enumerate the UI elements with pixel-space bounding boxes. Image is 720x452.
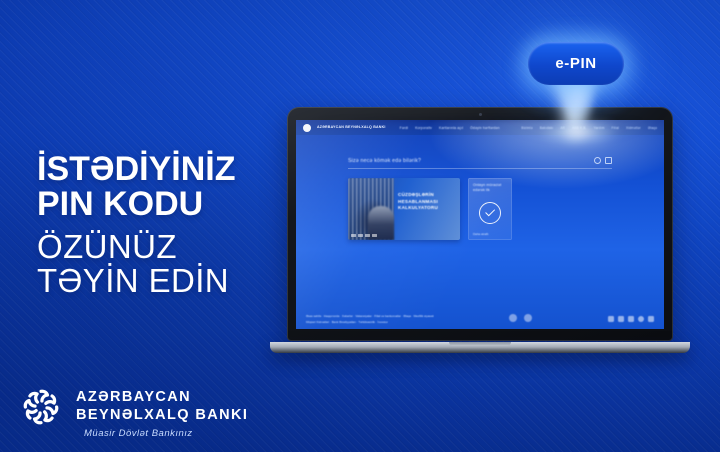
bank-name-line-1: AZƏRBAYCAN [76, 389, 248, 407]
facebook-icon[interactable] [608, 316, 614, 322]
menu-icon[interactable] [605, 157, 612, 164]
headline-line-4: TƏYİN EDİN [37, 264, 235, 298]
epin-promo-banner: İSTƏDİYİNİZ PIN KODU ÖZÜNÜZ TƏYİN EDİN A… [0, 0, 720, 452]
epin-badge-group: e-PIN [528, 42, 624, 85]
bank-logo-text: AZƏRBAYCAN BEYNƏLXALQ BANKI [76, 389, 248, 424]
partner-badge-icon-1 [509, 314, 517, 322]
card-photo [348, 178, 394, 240]
footer-links-primary[interactable]: Əsas səhifə · Haqqımızda · Xəbərlər · Va… [306, 314, 434, 318]
headline-line-1: İSTƏDİYİNİZ [37, 152, 235, 187]
search-actions[interactable] [594, 157, 612, 164]
footer-links-secondary[interactable]: Müştəri Xidmətləri · Bank Əməliyyatları … [306, 320, 388, 324]
site-search-bar[interactable]: Sizə necə kömək edə bilərik? [348, 157, 612, 169]
check-circle-icon [479, 202, 501, 224]
laptop-base [270, 342, 690, 353]
laptop-drop-shadow [245, 118, 715, 127]
bank-name-line-2: BEYNƏLXALQ BANKI [76, 407, 248, 425]
epin-badge-label: e-PIN [555, 55, 596, 72]
headline-line-2: PIN KODU [37, 187, 235, 222]
bank-logo-lockup: AZƏRBAYCAN BEYNƏLXALQ BANKI [18, 384, 248, 430]
footer-social-icons[interactable] [608, 316, 654, 324]
epin-badge[interactable]: e-PIN [528, 42, 624, 85]
partner-badge-icon-2 [524, 314, 532, 322]
card-badge-row [351, 234, 377, 237]
instagram-icon[interactable] [618, 316, 624, 322]
footer-row-1[interactable]: Əsas səhifə · Haqqımızda · Xəbərlər · Va… [306, 314, 434, 318]
light-beam-pool [540, 120, 620, 150]
calculator-card-title: CÜZDƏŞLƏRİN HESABLANMASI KALKULYATORU [398, 192, 455, 212]
website-hero: Sizə necə kömək edə bilərik? [296, 135, 664, 240]
online-card-title-line2: edərək ilk [473, 188, 507, 193]
hero-card-group: CÜZDƏŞLƏRİN HESABLANMASI KALKULYATORU On… [348, 178, 612, 240]
footer-row-2[interactable]: Müştəri Xidmətləri · Bank Əməliyyatları … [306, 320, 434, 324]
calculator-promo-card[interactable]: CÜZDƏŞLƏRİN HESABLANMASI KALKULYATORU [348, 178, 460, 240]
footer-partner-badges [509, 314, 532, 324]
webcam-icon [479, 113, 482, 116]
headline-block: İSTƏDİYİNİZ PIN KODU ÖZÜNÜZ TƏYİN EDİN [37, 152, 235, 298]
bank-tagline: Müasir Dövlət Bankınız [84, 428, 193, 439]
youtube-icon[interactable] [628, 316, 634, 322]
chat-icon[interactable] [648, 316, 654, 322]
search-prompt-label: Sizə necə kömək edə bilərik? [348, 158, 421, 164]
online-application-card[interactable]: Onlayn müraciət edərək ilk Daha ətraflı [468, 178, 512, 240]
calculator-card-title-line3: KALKULYATORU [398, 205, 455, 212]
search-icon[interactable] [594, 157, 601, 164]
laptop-screen: AZƏRBAYCAN BEYNƏLXALQ BANKI Fərdi Korpor… [296, 120, 664, 329]
laptop-base-notch [449, 342, 511, 346]
phone-icon[interactable] [638, 316, 644, 322]
website-footer: Əsas səhifə · Haqqımızda · Xəbərlər · Va… [296, 314, 664, 329]
online-card-footer-link[interactable]: Daha ətraflı [473, 232, 489, 236]
eight-point-star-rosette-icon [18, 384, 64, 430]
online-card-title: Onlayn müraciət edərək ilk [473, 183, 507, 193]
headline-line-3: ÖZÜNÜZ [37, 230, 235, 264]
footer-link-columns[interactable]: Əsas səhifə · Haqqımızda · Xəbərlər · Va… [306, 314, 434, 324]
